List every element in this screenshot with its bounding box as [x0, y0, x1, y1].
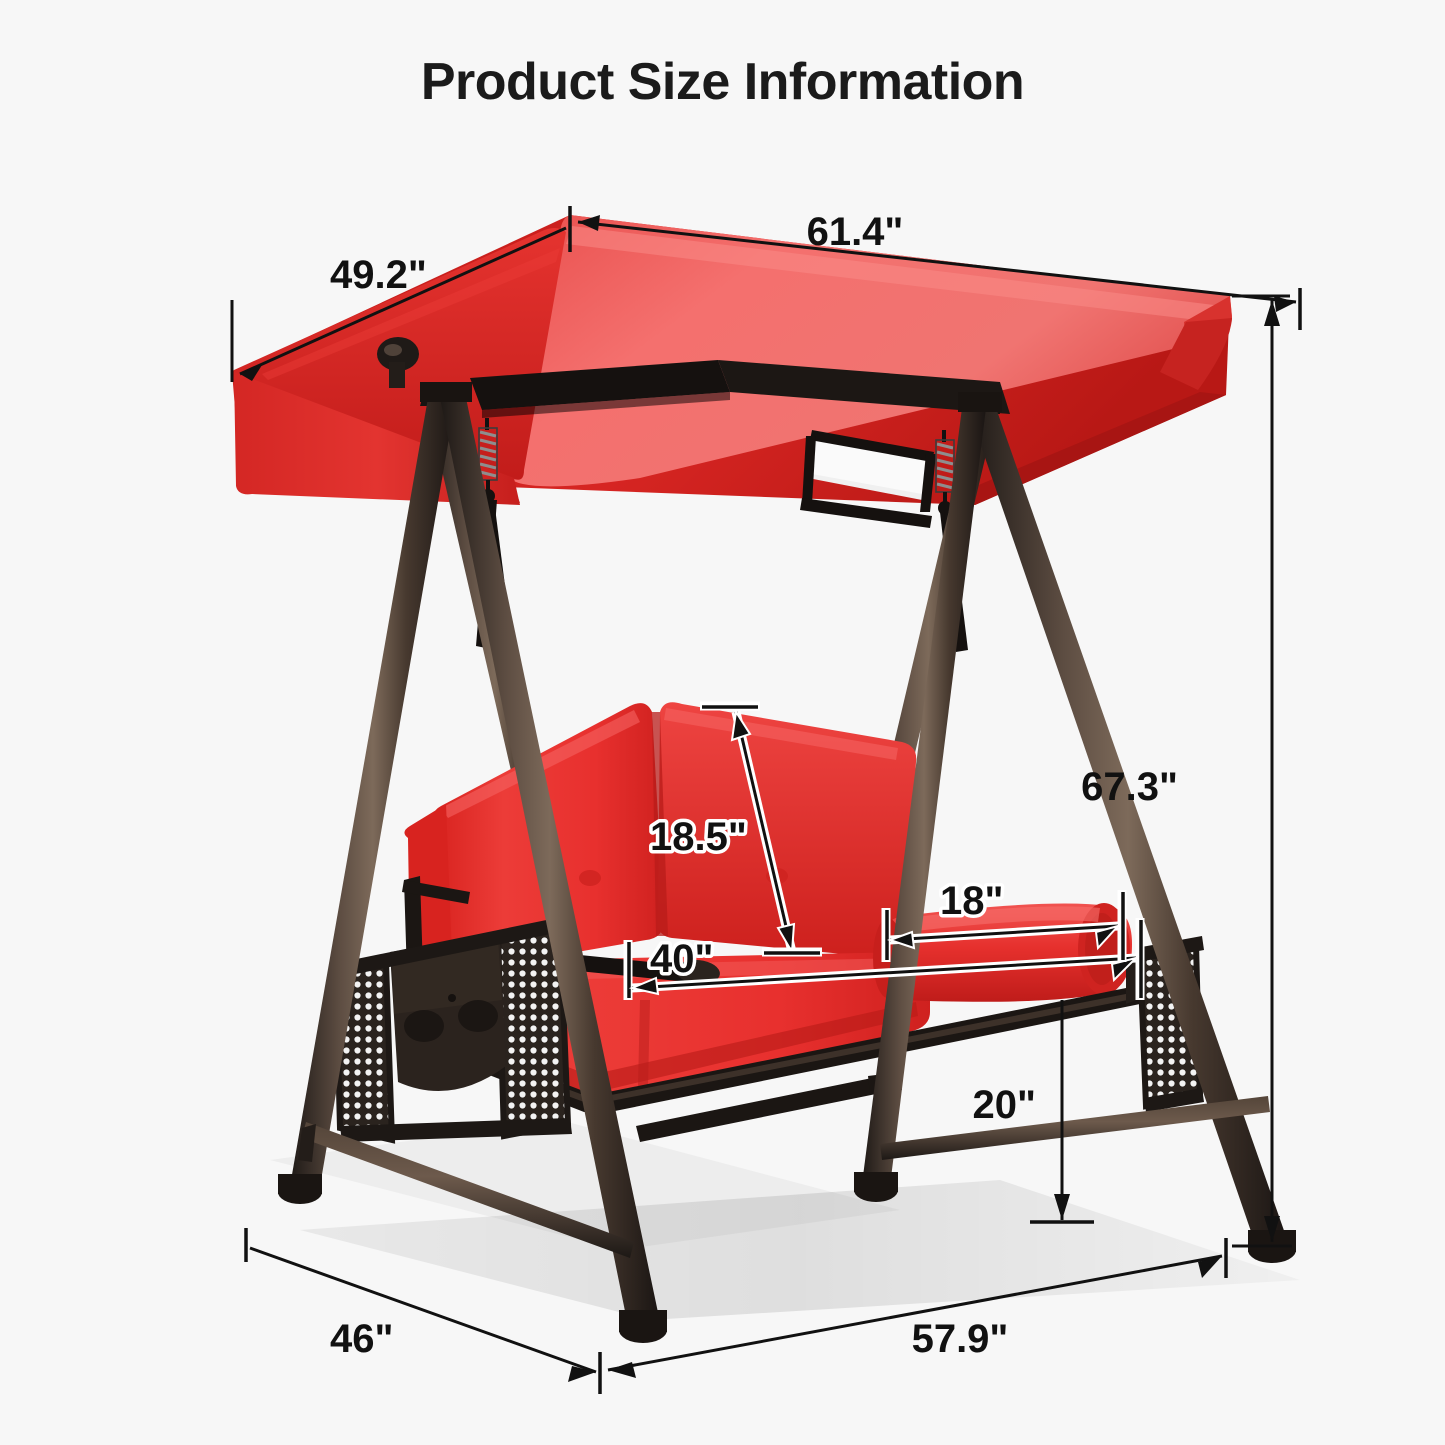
dimension-label-backrest-height: 18.5" [650, 815, 747, 859]
dim-bolster-length: 18" [886, 879, 1123, 962]
dim-seat-height: 20" [973, 1000, 1094, 1222]
dim-canopy-width: 61.4" [570, 206, 1300, 330]
dim-overall-height: 67.3" [1081, 296, 1290, 1246]
dim-canopy-depth: 49.2" [232, 228, 566, 382]
dim-backrest-height: 18.5" [650, 706, 822, 953]
dim-base-width: 57.9" [608, 1238, 1292, 1378]
dimension-label-overall-height: 67.3" [1081, 765, 1178, 809]
dimension-label-seat-width: 40" [650, 937, 713, 981]
dimension-label-base-depth: 46" [330, 1317, 393, 1361]
dimension-label-canopy-depth: 49.2" [330, 253, 427, 297]
dimension-label-seat-height: 20" [973, 1083, 1036, 1127]
dimension-annotations: 61.4" 49.2" 67.3" 18.5 [0, 0, 1445, 1445]
product-size-diagram: Product Size Information [0, 0, 1445, 1445]
dimension-label-base-width: 57.9" [912, 1317, 1009, 1361]
dim-base-depth: 46" [246, 1228, 600, 1394]
dimension-label-bolster-length: 18" [940, 879, 1003, 923]
dimension-label-canopy-width: 61.4" [807, 210, 904, 254]
